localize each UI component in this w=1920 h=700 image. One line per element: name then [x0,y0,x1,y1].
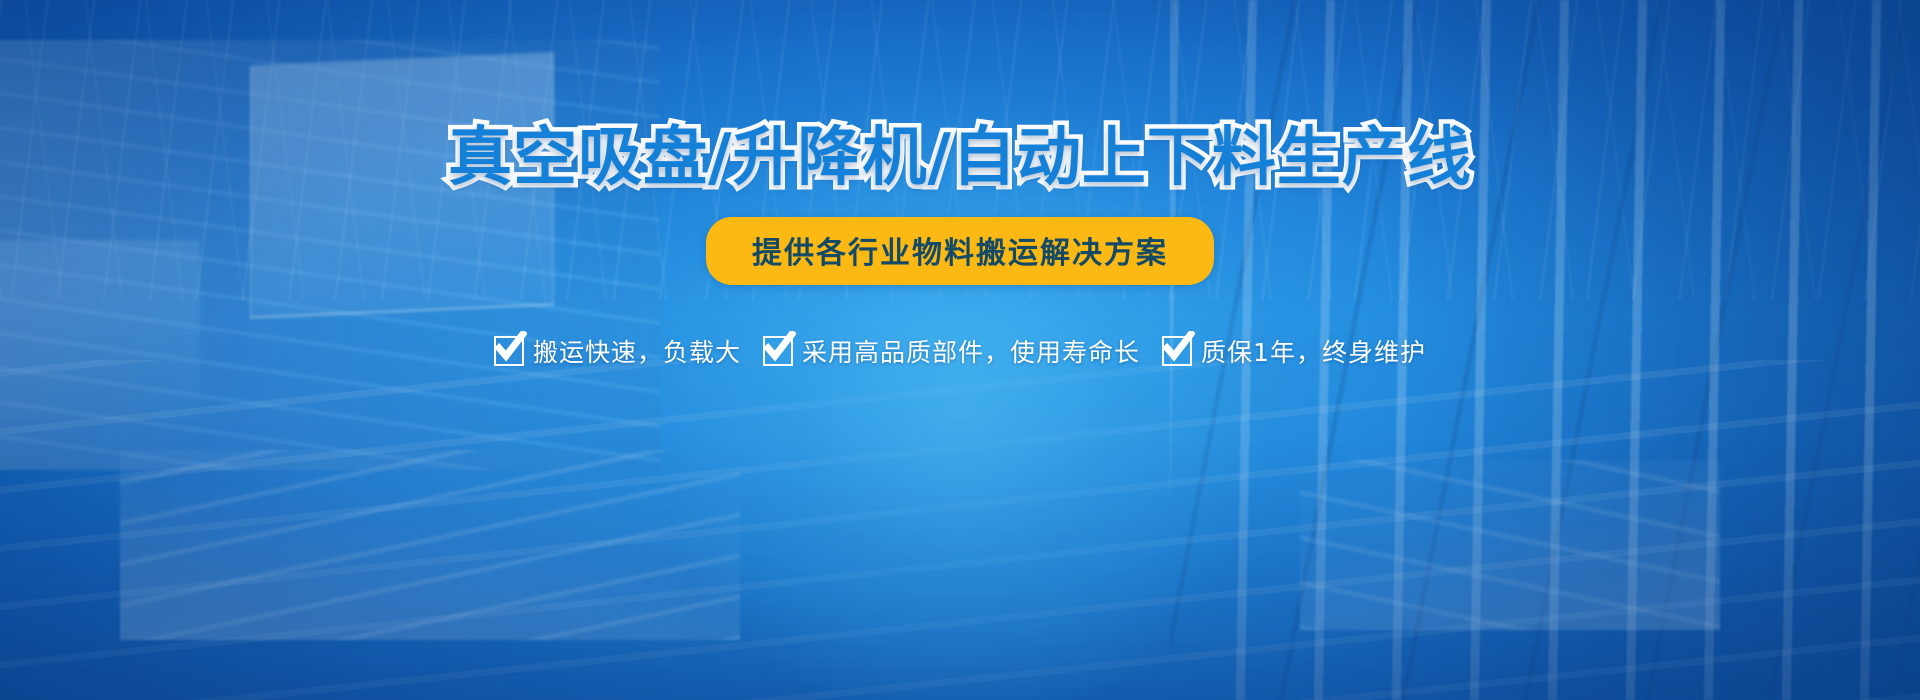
feature-item: 搬运快速，负载大 [494,333,741,369]
checkbox-check-icon [763,336,793,366]
feature-item: 采用高品质部件，使用寿命长 [763,333,1140,369]
feature-list: 搬运快速，负载大 采用高品质部件，使用寿命长 质保1年，终身维护 [494,333,1426,369]
banner-headline: 真空吸盘/升降机/自动上下料生产线 [448,126,1472,190]
feature-label: 采用高品质部件，使用寿命长 [802,333,1140,369]
banner-subtitle-badge: 提供各行业物料搬运解决方案 [706,217,1214,285]
promo-banner: 真空吸盘/升降机/自动上下料生产线 提供各行业物料搬运解决方案 搬运快速，负载大… [0,0,1920,700]
checkbox-check-icon [494,336,524,366]
feature-item: 质保1年，终身维护 [1162,333,1426,369]
feature-label: 质保1年，终身维护 [1201,333,1426,369]
feature-label: 搬运快速，负载大 [533,333,741,369]
checkbox-check-icon [1162,336,1192,366]
banner-content: 真空吸盘/升降机/自动上下料生产线 提供各行业物料搬运解决方案 搬运快速，负载大… [0,0,1920,700]
